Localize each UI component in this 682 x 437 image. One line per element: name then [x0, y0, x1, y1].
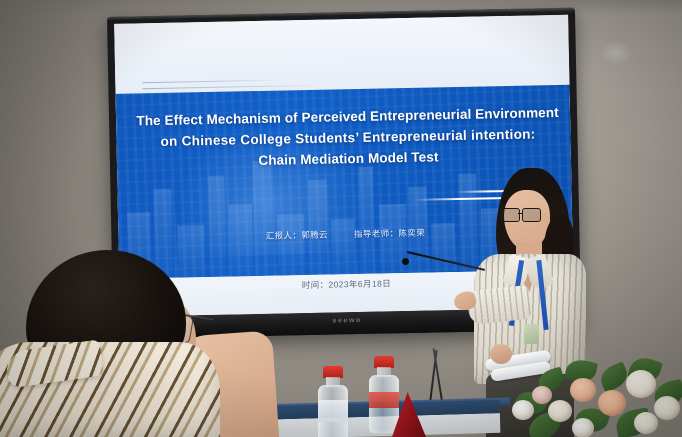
seated-audience-member	[0, 250, 280, 437]
flower-bouquet	[512, 352, 682, 437]
presenter-arm	[466, 285, 531, 325]
presenter-name: 郭腾云	[301, 229, 328, 242]
bottle-label	[318, 400, 348, 422]
advisor-name: 陈奕荣	[398, 227, 425, 240]
bottle-label	[369, 392, 399, 408]
credits-spacer	[328, 238, 354, 239]
id-badge	[524, 324, 539, 344]
presenter-label: 汇报人：	[266, 230, 302, 243]
presentation-room-photo: The Effect Mechanism of Perceived Entrep…	[0, 0, 682, 437]
advisor-label: 指导老师：	[354, 228, 399, 241]
wall-smudge	[600, 40, 632, 66]
presenter-hand-holding	[490, 344, 512, 364]
pointer-tip-icon	[402, 258, 409, 265]
date-label: 时间：	[302, 280, 329, 291]
tv-brand-logo: seewo	[332, 317, 362, 325]
slide-title: The Effect Mechanism of Perceived Entrep…	[134, 103, 562, 174]
photo-top-blur	[0, 0, 682, 14]
date-value: 2023年6月18日	[328, 279, 391, 290]
glasses-icon	[501, 208, 541, 220]
